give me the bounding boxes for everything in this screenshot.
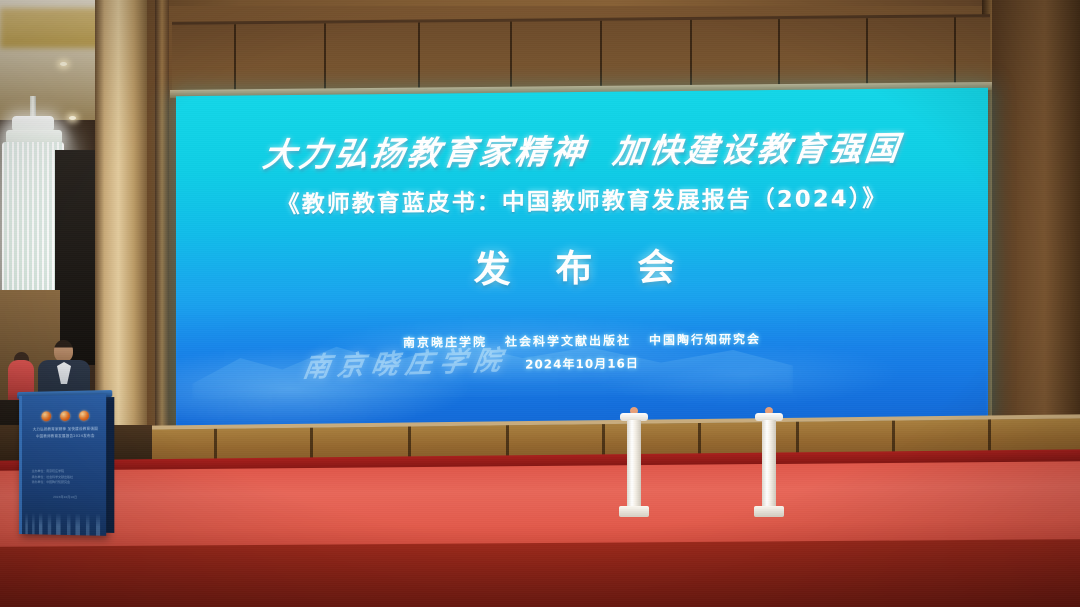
podium-title-line-2: 中国教师教育发展报告2024发布会 [22,434,106,440]
stand-shaft [627,420,641,508]
stand-base [619,506,649,517]
headline-left: 大力弘扬教育家精神 [261,132,590,174]
screen-event-date: 2024年10月16日 [176,351,988,377]
podium-title-line-1: 大力弘扬教育家精神 加快建设教育强国 [22,427,106,433]
emblem-right-icon [79,411,89,421]
right-pillar [992,0,1080,470]
upper-wall-panels [172,14,990,94]
led-screen: 大力弘扬教育家精神加快建设教育强国 《教师教育蓝皮书：中国教师教育发展报告（20… [176,88,988,427]
emblem-left-icon [41,411,51,421]
screen-subtitle: 《教师教育蓝皮书：中国教师教育发展报告（2024）》 [176,178,988,221]
stage-frame-bevel-left [155,0,169,470]
emblem-center-icon [60,411,70,421]
organizer-2: 社会科学文献出版社 [505,334,631,349]
podium-date: 2024年10月16日 [22,495,106,500]
stand-shaft [762,420,776,508]
speaker-head [54,340,73,362]
stage-front-skirt [0,539,1080,607]
podium: 大力弘扬教育家精神 加快建设教育强国 中国教师教育发展报告2024发布会 主办单… [19,394,116,536]
headline-right: 加快建设教育强国 [611,129,904,171]
podium-detail-item: 协办单位：中国陶行知研究会 [32,480,101,486]
screen-watermark: 南京晓庄学院 [301,338,512,385]
downlight-icon [60,62,67,66]
stand-base [754,506,784,517]
city-skyline-graphic [22,512,106,536]
podium-front-panel: 大力弘扬教育家精神 加快建设教育强国 中国教师教育发展报告2024发布会 主办单… [19,394,106,536]
screen-headline: 大力弘扬教育家精神加快建设教育强国 [176,130,988,175]
conference-hall-photo: 大力弘扬教育家精神加快建设教育强国 《教师教育蓝皮书：中国教师教育发展报告（20… [0,0,1080,607]
podium-emblem-group [22,410,106,421]
screen-organizers: 南京晓庄学院社会科学文献出版社中国陶行知研究会 [176,328,988,354]
podium-detail-list: 主办单位：南京晓庄学院 承办单位：社会科学文献出版社 协办单位：中国陶行知研究会 [32,469,101,486]
organizer-3: 中国陶行知研究会 [649,332,761,347]
screen-main-title: 发 布 会 [176,234,988,297]
left-dark-recess [55,150,100,365]
downlight-icon [69,116,76,120]
screen-content: 大力弘扬教育家精神加快建设教育强国 《教师教育蓝皮书：中国教师教育发展报告（20… [176,88,988,427]
